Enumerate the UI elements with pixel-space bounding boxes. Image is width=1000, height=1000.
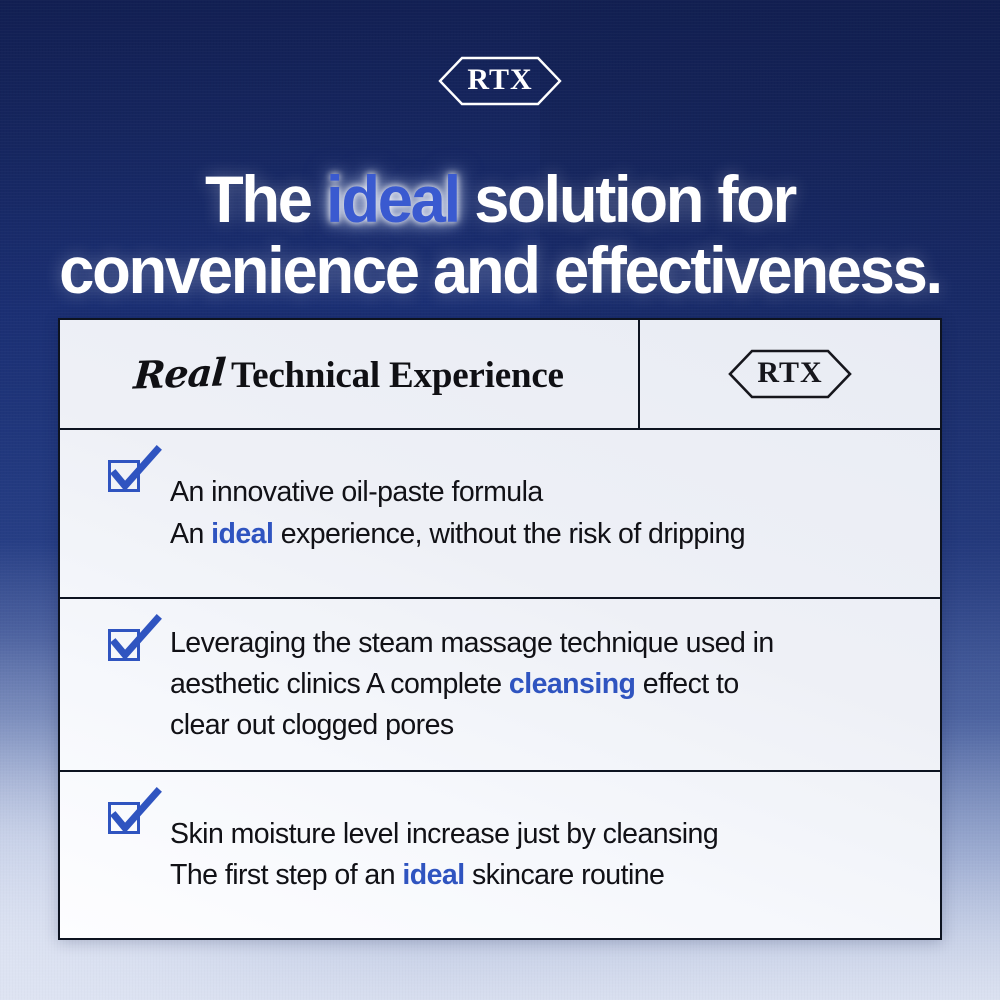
feature-text-segment: clear out clogged pores xyxy=(170,709,454,741)
feature-text-segment: effect to xyxy=(635,668,738,700)
checkbox-checked-icon xyxy=(108,796,146,834)
checkbox-checked-icon xyxy=(108,623,146,661)
checkbox-checked-icon xyxy=(108,454,146,492)
feature-line: clear out clogged pores xyxy=(170,705,774,746)
headline-line-1-pre: The xyxy=(205,162,326,236)
feature-line: An ideal experience, without the risk of… xyxy=(170,514,745,555)
feature-line: Skin moisture level increase just by cle… xyxy=(170,814,718,855)
headline-accent-word: ideal xyxy=(326,162,459,236)
feature-accent-word: ideal xyxy=(402,859,464,891)
headline-line-2: convenience and effectiveness. xyxy=(20,235,980,306)
feature-text-segment: Skin moisture level increase just by cle… xyxy=(170,818,718,850)
feature-row: An innovative oil-paste formula An ideal… xyxy=(60,430,940,599)
feature-text-segment: skincare routine xyxy=(465,859,665,891)
promo-poster: RTX The ideal solution for convenience a… xyxy=(0,0,1000,1000)
headline-line-1-post: solution for xyxy=(459,162,795,236)
header-script-word: Real xyxy=(132,349,226,397)
feature-text-segment: An xyxy=(170,518,211,550)
feature-line: Leveraging the steam massage technique u… xyxy=(170,623,774,664)
feature-text-segment: Leveraging the steam massage technique u… xyxy=(170,627,774,659)
feature-accent-word: ideal xyxy=(211,518,273,550)
table-header-logo-text: RTX xyxy=(728,349,852,399)
feature-line: An innovative oil-paste formula xyxy=(170,472,745,513)
hexagon-outline-icon: RTX xyxy=(728,349,852,399)
hexagon-outline-icon: RTX xyxy=(438,56,562,106)
feature-table: Real Technical Experience RTX xyxy=(58,318,942,940)
table-header-logo-cell: RTX xyxy=(640,320,940,428)
feature-text-segment: experience, without the risk of dripping xyxy=(273,518,745,550)
header-serif-word: Technical Experience xyxy=(231,354,564,397)
headline-line-1: The ideal solution for xyxy=(20,164,980,235)
feature-line: The first step of an ideal skincare rout… xyxy=(170,855,718,896)
feature-text-segment: aesthetic clinics A complete xyxy=(170,668,509,700)
feature-row: Leveraging the steam massage technique u… xyxy=(60,599,940,772)
feature-row-text: Leveraging the steam massage technique u… xyxy=(170,623,800,746)
feature-line: aesthetic clinics A complete cleansing e… xyxy=(170,664,774,705)
table-header-title-cell: Real Technical Experience xyxy=(60,320,640,428)
feature-text-segment: The first step of an xyxy=(170,859,402,891)
page-title: The ideal solution for convenience and e… xyxy=(20,164,980,305)
feature-text-segment: An innovative oil-paste formula xyxy=(170,476,543,508)
brand-logo: RTX xyxy=(0,56,1000,106)
feature-row: Skin moisture level increase just by cle… xyxy=(60,772,940,938)
feature-accent-word: cleansing xyxy=(509,668,636,700)
feature-row-text: An innovative oil-paste formula An ideal… xyxy=(170,472,771,554)
brand-logo-text: RTX xyxy=(438,56,562,106)
feature-row-text: Skin moisture level increase just by cle… xyxy=(170,814,744,896)
feature-table-header: Real Technical Experience RTX xyxy=(60,320,940,430)
